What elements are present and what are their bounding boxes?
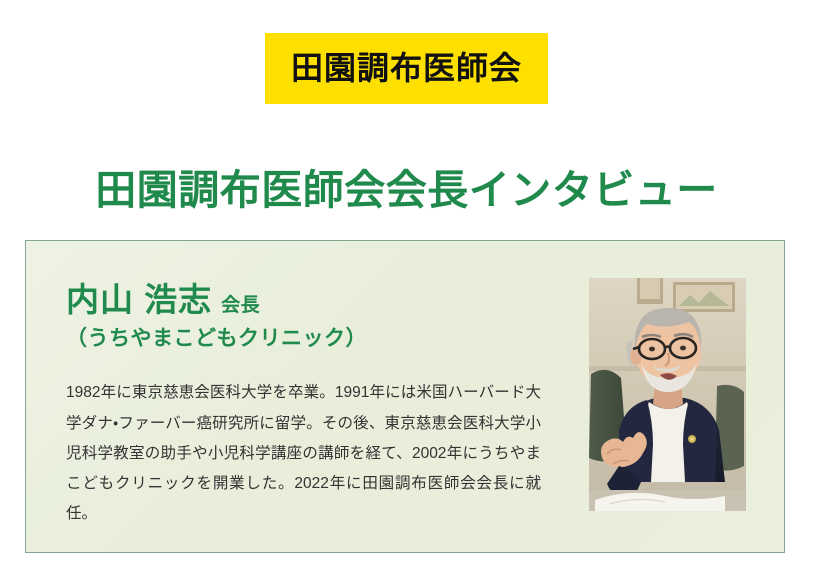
doctor-photo-image (589, 278, 746, 511)
doctor-role: 会長 (221, 295, 260, 316)
profile-text-column: 内山 浩志会長 （うちやまこどもクリニック） 1982年に東京慈恵会医科大学を卒… (66, 283, 566, 529)
clinic-name: （うちやまこどもクリニック） (66, 325, 566, 352)
doctor-biography: 1982年に東京慈恵会医科大学を卒業。1991年には米国ハーバード大学ダナ・ファ… (66, 378, 541, 529)
profile-card: 内山 浩志会長 （うちやまこどもクリニック） 1982年に東京慈恵会医科大学を卒… (25, 240, 785, 553)
page-title: 田園調布医師会会長インタビュー (0, 166, 813, 215)
page-root: 田園調布医師会 田園調布医師会会長インタビュー 内山 浩志会長 （うちやまこども… (0, 0, 813, 586)
badge-row: 田園調布医師会 (0, 33, 813, 104)
organization-badge: 田園調布医師会 (265, 33, 548, 104)
doctor-photo (589, 278, 746, 511)
doctor-name-line: 内山 浩志会長 (66, 283, 566, 316)
doctor-name: 内山 浩志 (66, 281, 212, 318)
profile-card-inner: 内山 浩志会長 （うちやまこどもクリニック） 1982年に東京慈恵会医科大学を卒… (26, 241, 784, 552)
